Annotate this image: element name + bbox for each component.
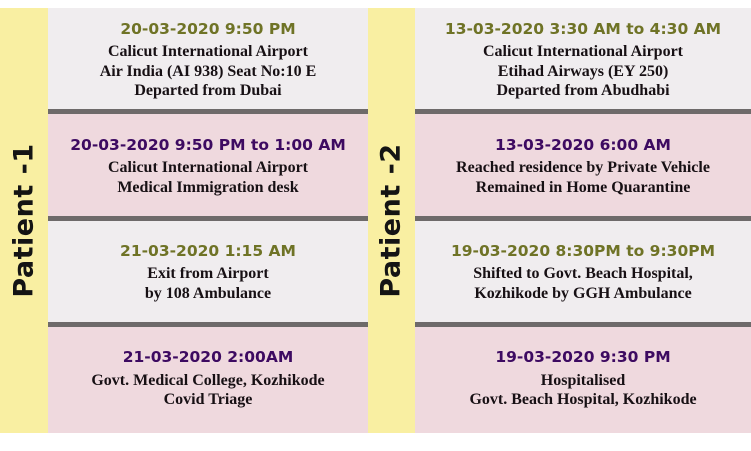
event-detail-line: Air India (AI 938) Seat No:10 E <box>100 62 317 82</box>
patient-timeline-board: Patient -1 20-03-2020 9:50 PM Calicut In… <box>0 8 751 433</box>
event-block-list-2: 13-03-2020 3:30 AM to 4:30 AM Calicut In… <box>415 8 751 433</box>
event-detail-lines: Hospitalised Govt. Beach Hospital, Kozhi… <box>469 371 696 410</box>
event-detail-line: Calicut International Airport <box>483 42 683 62</box>
event-heading: 13-03-2020 3:30 AM to 4:30 AM <box>445 20 721 39</box>
event-detail-line: Calicut International Airport <box>100 42 317 62</box>
event-detail-lines: Calicut International Airport Etihad Air… <box>483 42 683 101</box>
event-heading: 20-03-2020 9:50 PM to 1:00 AM <box>70 136 346 155</box>
event-heading: 19-03-2020 9:30 PM <box>495 348 670 367</box>
event-detail-line: Govt. Medical College, Kozhikode <box>91 371 324 391</box>
event-detail-line: Covid Triage <box>91 390 324 410</box>
event-detail-line: Etihad Airways (EY 250) <box>483 62 683 82</box>
event-detail-line: Kozhikode by GGH Ambulance <box>473 284 693 304</box>
event-block[interactable]: 13-03-2020 3:30 AM to 4:30 AM Calicut In… <box>415 8 751 114</box>
event-heading: 19-03-2020 8:30PM to 9:30PM <box>451 242 715 261</box>
event-block[interactable]: 19-03-2020 8:30PM to 9:30PM Shifted to G… <box>415 221 751 327</box>
patient-column-2: Patient -2 13-03-2020 3:30 AM to 4:30 AM… <box>368 8 751 433</box>
event-detail-lines: Govt. Medical College, Kozhikode Covid T… <box>91 371 324 410</box>
event-detail-line: Govt. Beach Hospital, Kozhikode <box>469 390 696 410</box>
event-block[interactable]: 21-03-2020 1:15 AM Exit from Airport by … <box>48 221 368 327</box>
patient-label-bar-1: Patient -1 <box>0 8 48 433</box>
event-block[interactable]: 19-03-2020 9:30 PM Hospitalised Govt. Be… <box>415 327 751 433</box>
event-detail-line: Departed from Abudhabi <box>483 81 683 101</box>
event-detail-line: Shifted to Govt. Beach Hospital, <box>473 264 693 284</box>
event-detail-lines: Exit from Airport by 108 Ambulance <box>145 264 271 303</box>
patient-label-bar-2: Patient -2 <box>368 8 415 433</box>
event-detail-line: by 108 Ambulance <box>145 284 271 304</box>
event-heading: 21-03-2020 1:15 AM <box>120 242 296 261</box>
event-detail-line: Calicut International Airport <box>108 158 308 178</box>
event-detail-lines: Reached residence by Private Vehicle Rem… <box>456 158 710 197</box>
event-detail-lines: Calicut International Airport Air India … <box>100 42 317 101</box>
event-block[interactable]: 13-03-2020 6:00 AM Reached residence by … <box>415 114 751 220</box>
patient-column-1: Patient -1 20-03-2020 9:50 PM Calicut In… <box>0 8 368 433</box>
timeline-infographic: Patient -1 20-03-2020 9:50 PM Calicut In… <box>0 0 751 451</box>
event-detail-lines: Shifted to Govt. Beach Hospital, Kozhiko… <box>473 264 693 303</box>
event-detail-line: Reached residence by Private Vehicle <box>456 158 710 178</box>
top-margin-strip <box>0 0 751 8</box>
event-block[interactable]: 20-03-2020 9:50 PM Calicut International… <box>48 8 368 114</box>
event-detail-line: Exit from Airport <box>145 264 271 284</box>
patient-label-2: Patient -2 <box>376 143 407 297</box>
patient-label-1: Patient -1 <box>9 143 40 297</box>
event-block-list-1: 20-03-2020 9:50 PM Calicut International… <box>48 8 368 433</box>
event-heading: 20-03-2020 9:50 PM <box>120 20 295 39</box>
event-detail-line: Departed from Dubai <box>100 81 317 101</box>
event-detail-lines: Calicut International Airport Medical Im… <box>108 158 308 197</box>
event-block[interactable]: 21-03-2020 2:00AM Govt. Medical College,… <box>48 327 368 433</box>
event-heading: 21-03-2020 2:00AM <box>123 348 294 367</box>
bottom-margin-strip <box>0 433 751 451</box>
event-heading: 13-03-2020 6:00 AM <box>495 136 671 155</box>
event-block[interactable]: 20-03-2020 9:50 PM to 1:00 AM Calicut In… <box>48 114 368 220</box>
event-detail-line: Medical Immigration desk <box>108 178 308 198</box>
event-detail-line: Remained in Home Quarantine <box>456 178 710 198</box>
event-detail-line: Hospitalised <box>469 371 696 391</box>
